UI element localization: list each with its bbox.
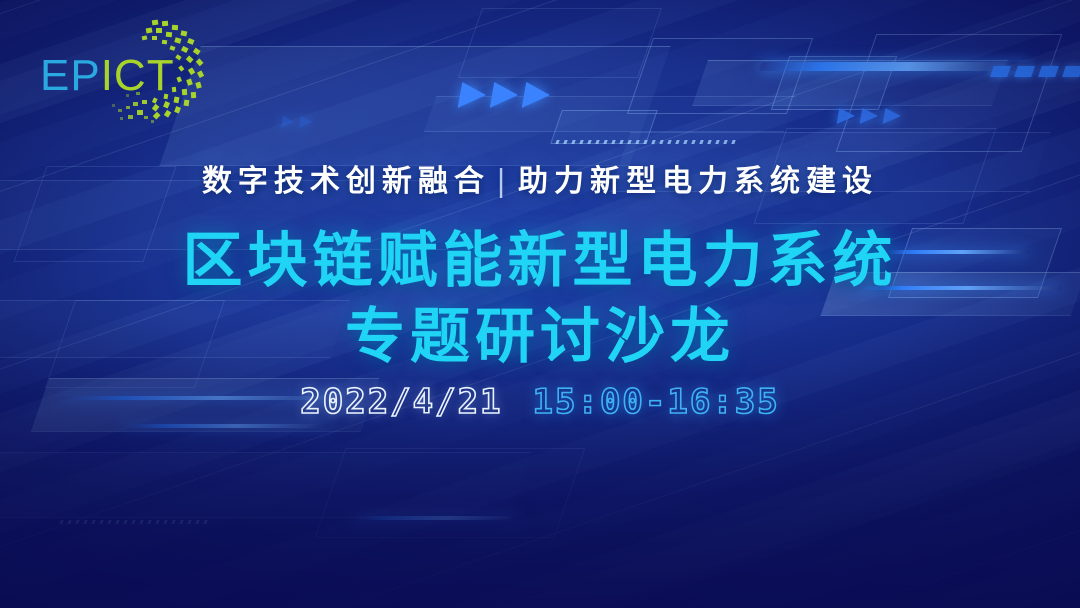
event-date: 2022/4/21 bbox=[300, 382, 502, 422]
logo-wordmark: EPICT bbox=[40, 54, 175, 98]
hud-wireframe-box bbox=[458, 8, 662, 78]
poster-subtitle: 数字技术创新融合|助力新型电力系统建设 bbox=[0, 156, 1080, 200]
chevron-right-icon bbox=[281, 116, 295, 128]
chevron-arrow-group bbox=[458, 82, 553, 108]
chevron-arrow-group bbox=[837, 108, 903, 124]
hud-wireframe-box bbox=[315, 448, 586, 538]
chevron-arrow-group bbox=[281, 116, 313, 128]
chevron-right-icon bbox=[883, 108, 903, 124]
chevron-right-icon bbox=[299, 116, 313, 128]
glow-streak bbox=[758, 62, 1031, 71]
tick-strip bbox=[59, 520, 210, 524]
hud-wireframe-box bbox=[550, 110, 658, 144]
chevron-right-icon bbox=[490, 82, 521, 108]
epict-logo[interactable]: EPICT bbox=[30, 14, 210, 132]
logo-word-ep: EP bbox=[40, 51, 101, 100]
event-schedule: 2022/4/2115:00-16:35 bbox=[0, 382, 1080, 422]
subtitle-separator: | bbox=[496, 164, 512, 199]
tick-strip bbox=[555, 140, 736, 144]
glow-streak bbox=[119, 424, 330, 428]
chevron-right-icon bbox=[860, 108, 880, 124]
poster-title-line-1: 区块链赋能新型电力系统 bbox=[0, 212, 1080, 299]
glow-streak bbox=[351, 516, 522, 520]
subtitle-right: 助力新型电力系统建设 bbox=[518, 164, 878, 199]
logo-word-ict: ICT bbox=[101, 51, 175, 100]
indicator-blocks bbox=[990, 66, 1080, 77]
chevron-right-icon bbox=[837, 108, 857, 124]
event-time: 15:00-16:35 bbox=[533, 382, 780, 422]
chevron-right-icon bbox=[522, 82, 553, 108]
poster-title-line-2: 专题研讨沙龙 bbox=[0, 288, 1080, 375]
subtitle-left: 数字技术创新融合 bbox=[202, 164, 490, 199]
event-poster: EPICT 数字技术创新融合|助力新型电力系统建设 区块链赋能新型电力系统 专题… bbox=[0, 0, 1080, 608]
chevron-right-icon bbox=[458, 82, 489, 108]
